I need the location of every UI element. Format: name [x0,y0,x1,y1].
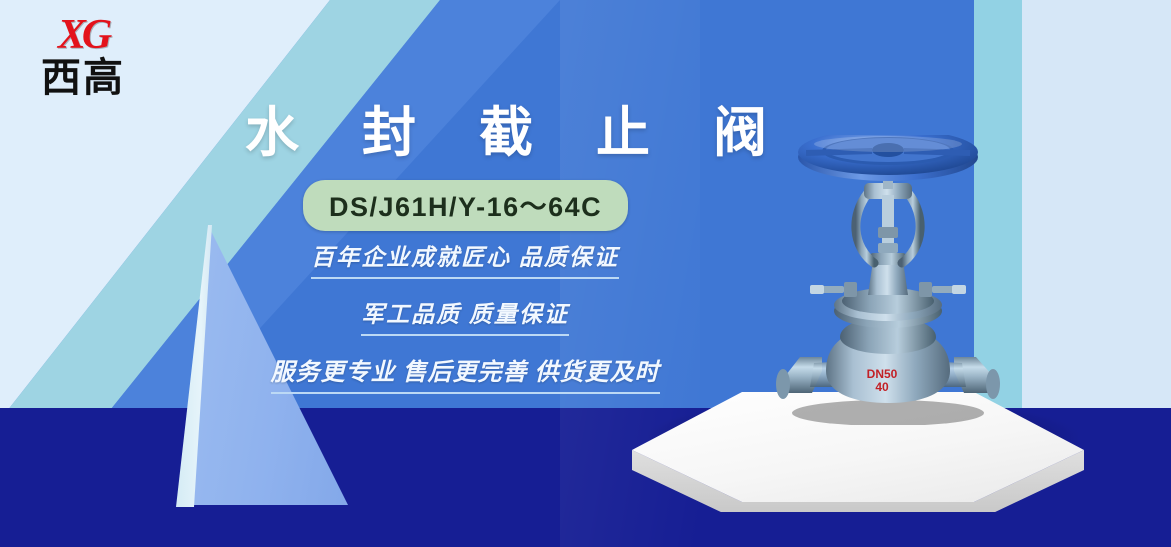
tagline-row: 服务更专业 售后更完善 供货更及时 [250,352,680,410]
brand-logo-name: 西高 [18,58,148,98]
model-code-badge: DS/J61H/Y-16～64C [303,180,628,231]
page-title: 水 封 截 止 阀 [245,88,791,167]
tagline-item: 军工品质 质量保证 [361,295,569,336]
brand-logo: XG 西高 [18,14,148,98]
background-right-pale-panel [1021,0,1171,424]
tagline-row: 军工品质 质量保证 [250,295,680,352]
tagline-item: 服务更专业 售后更完善 供货更及时 [271,352,660,394]
tagline-row: 百年企业成就匠心 品质保证 [250,238,680,295]
valve-marking-line1: DN50 [867,367,898,381]
brand-logo-mark: XG [18,14,148,56]
valve-marking-line2: 40 [875,380,889,394]
valve-handwheel [798,135,978,181]
product-image-globe-valve: DN50 40 [770,135,1000,425]
product-banner: XG 西高 水 封 截 止 阀 DS/J61H/Y-16～64C 百年企业成就匠… [0,0,1171,547]
tagline-item: 百年企业成就匠心 品质保证 [311,238,619,279]
tagline-group: 百年企业成就匠心 品质保证 军工品质 质量保证 服务更专业 售后更完善 供货更及… [250,238,680,410]
